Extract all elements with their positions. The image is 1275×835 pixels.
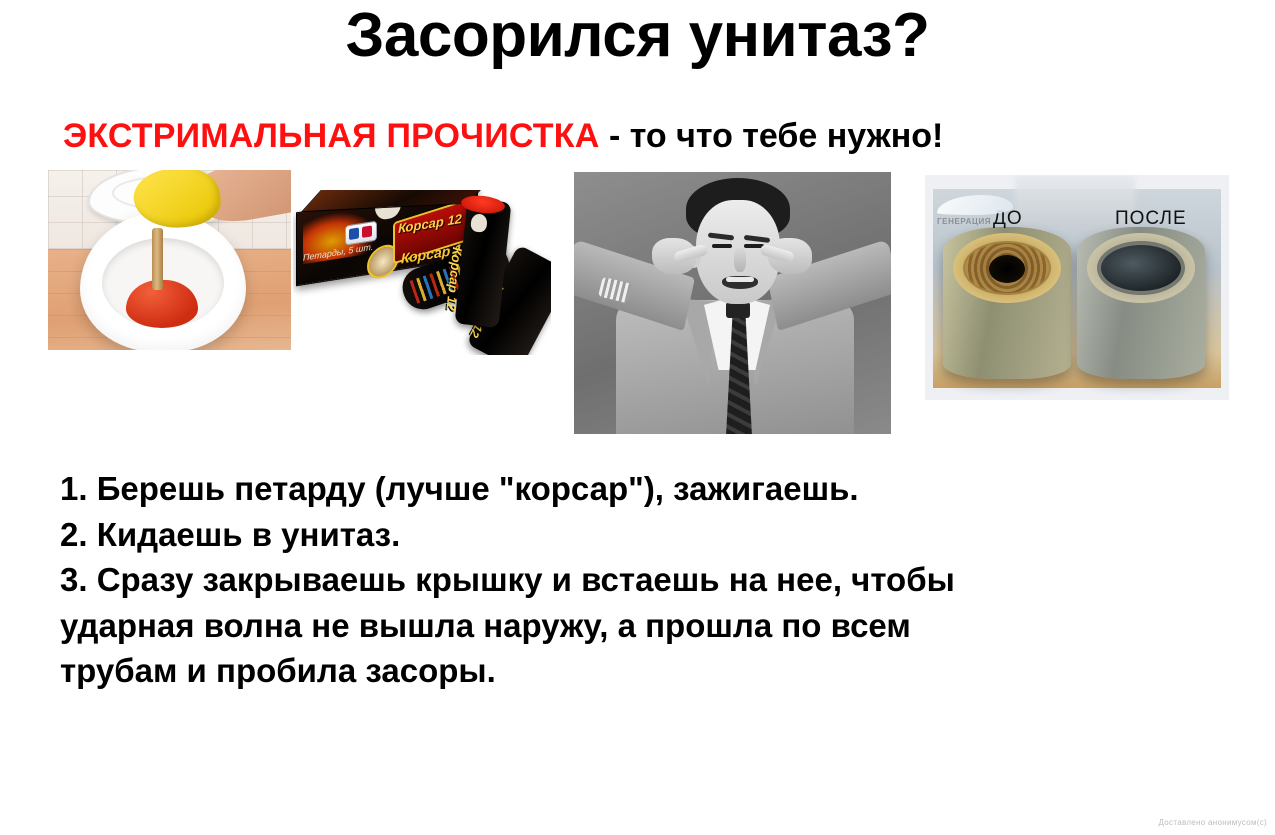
plunger-handle [152, 228, 163, 290]
label-after: ПОСЛЕ [1115, 208, 1187, 230]
instruction-line-4: ударная волна не вышла наружу, а прошла … [60, 603, 1220, 649]
toilet-plunger-image [48, 170, 291, 350]
slide-canvas: Засорился унитаз? ЭКСТРИМАЛЬНАЯ ПРОЧИСТК… [0, 0, 1275, 835]
instruction-line-3: 3. Сразу закрываешь крышку и встаешь на … [60, 557, 1220, 603]
pipe-before-after-image: ДО ПОСЛЕ ГЕНЕРАЦИЯ [925, 175, 1229, 400]
subtitle-black-text: - то что тебе нужно! [609, 117, 943, 155]
eyes [712, 244, 732, 248]
page-title: Засорился унитаз? [0, 2, 1275, 70]
footer-credit: Доставлено анонимусом(с) [1158, 818, 1267, 827]
instruction-line-1: 1. Берешь петарду (лучше "корсар"), зажи… [60, 466, 1220, 512]
necktie-knot [726, 302, 750, 318]
man-covering-ears-image [574, 172, 891, 434]
pipe-clean-opening [1101, 245, 1181, 291]
nose [734, 248, 746, 272]
instruction-line-2: 2. Кидаешь в унитаз. [60, 512, 1220, 558]
watermark-text: ГЕНЕРАЦИЯ [937, 217, 991, 226]
mouth [722, 276, 758, 289]
firecracker-image: Корсар 12 Корсар 12 Петарды, 5 шт. Корса… [293, 190, 551, 355]
pipe-clogged-opening [989, 255, 1025, 283]
subtitle-line: ЭКСТРИМАЛЬНАЯ ПРОЧИСТКА - то что тебе ну… [63, 118, 1213, 155]
watermark-logo: ГЕНЕРАЦИЯ [935, 191, 1019, 235]
instruction-line-5: трубам и пробила засоры. [60, 648, 1220, 694]
subtitle-red-text: ЭКСТРИМАЛЬНАЯ ПРОЧИСТКА [63, 117, 599, 155]
watermark-swoosh-icon [937, 195, 1013, 215]
instruction-list: 1. Берешь петарду (лучше "корсар"), зажи… [60, 466, 1220, 694]
